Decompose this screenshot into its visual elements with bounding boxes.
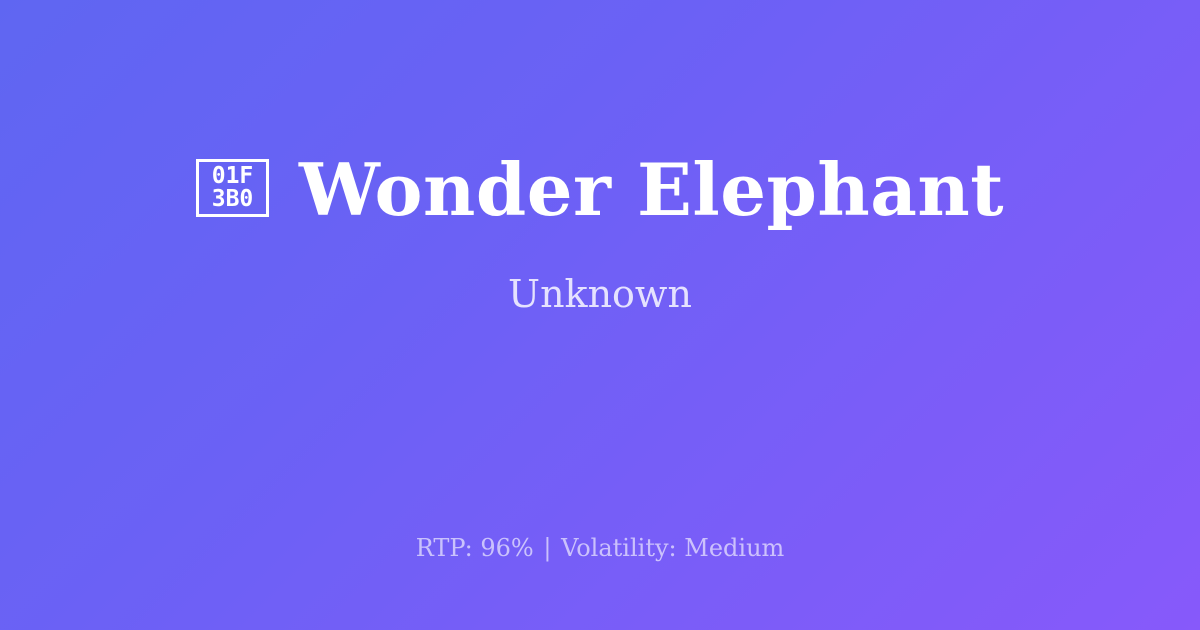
game-meta-line: RTP: 96% | Volatility: Medium xyxy=(0,533,1200,564)
meta-separator: | xyxy=(541,534,553,562)
tofu-codepoint-top: 01F xyxy=(212,165,254,188)
card-subtitle: Unknown xyxy=(508,272,692,318)
slot-machine-emoji-tofu-icon: 01F 3B0 xyxy=(196,159,269,217)
og-share-card: 01F 3B0 Wonder Elephant Unknown RTP: 96%… xyxy=(0,0,1200,630)
rtp-label: RTP: xyxy=(416,534,473,562)
tofu-codepoint-bottom: 3B0 xyxy=(212,188,254,211)
rtp-value: 96% xyxy=(480,534,533,562)
title-row: 01F 3B0 Wonder Elephant xyxy=(196,153,1004,228)
hero-block: 01F 3B0 Wonder Elephant Unknown xyxy=(0,0,1200,470)
volatility-label: Volatility: xyxy=(561,534,677,562)
page-title: Wonder Elephant xyxy=(299,153,1004,228)
volatility-value: Medium xyxy=(684,534,784,562)
card-footer: RTP: 96% | Volatility: Medium xyxy=(0,533,1200,564)
